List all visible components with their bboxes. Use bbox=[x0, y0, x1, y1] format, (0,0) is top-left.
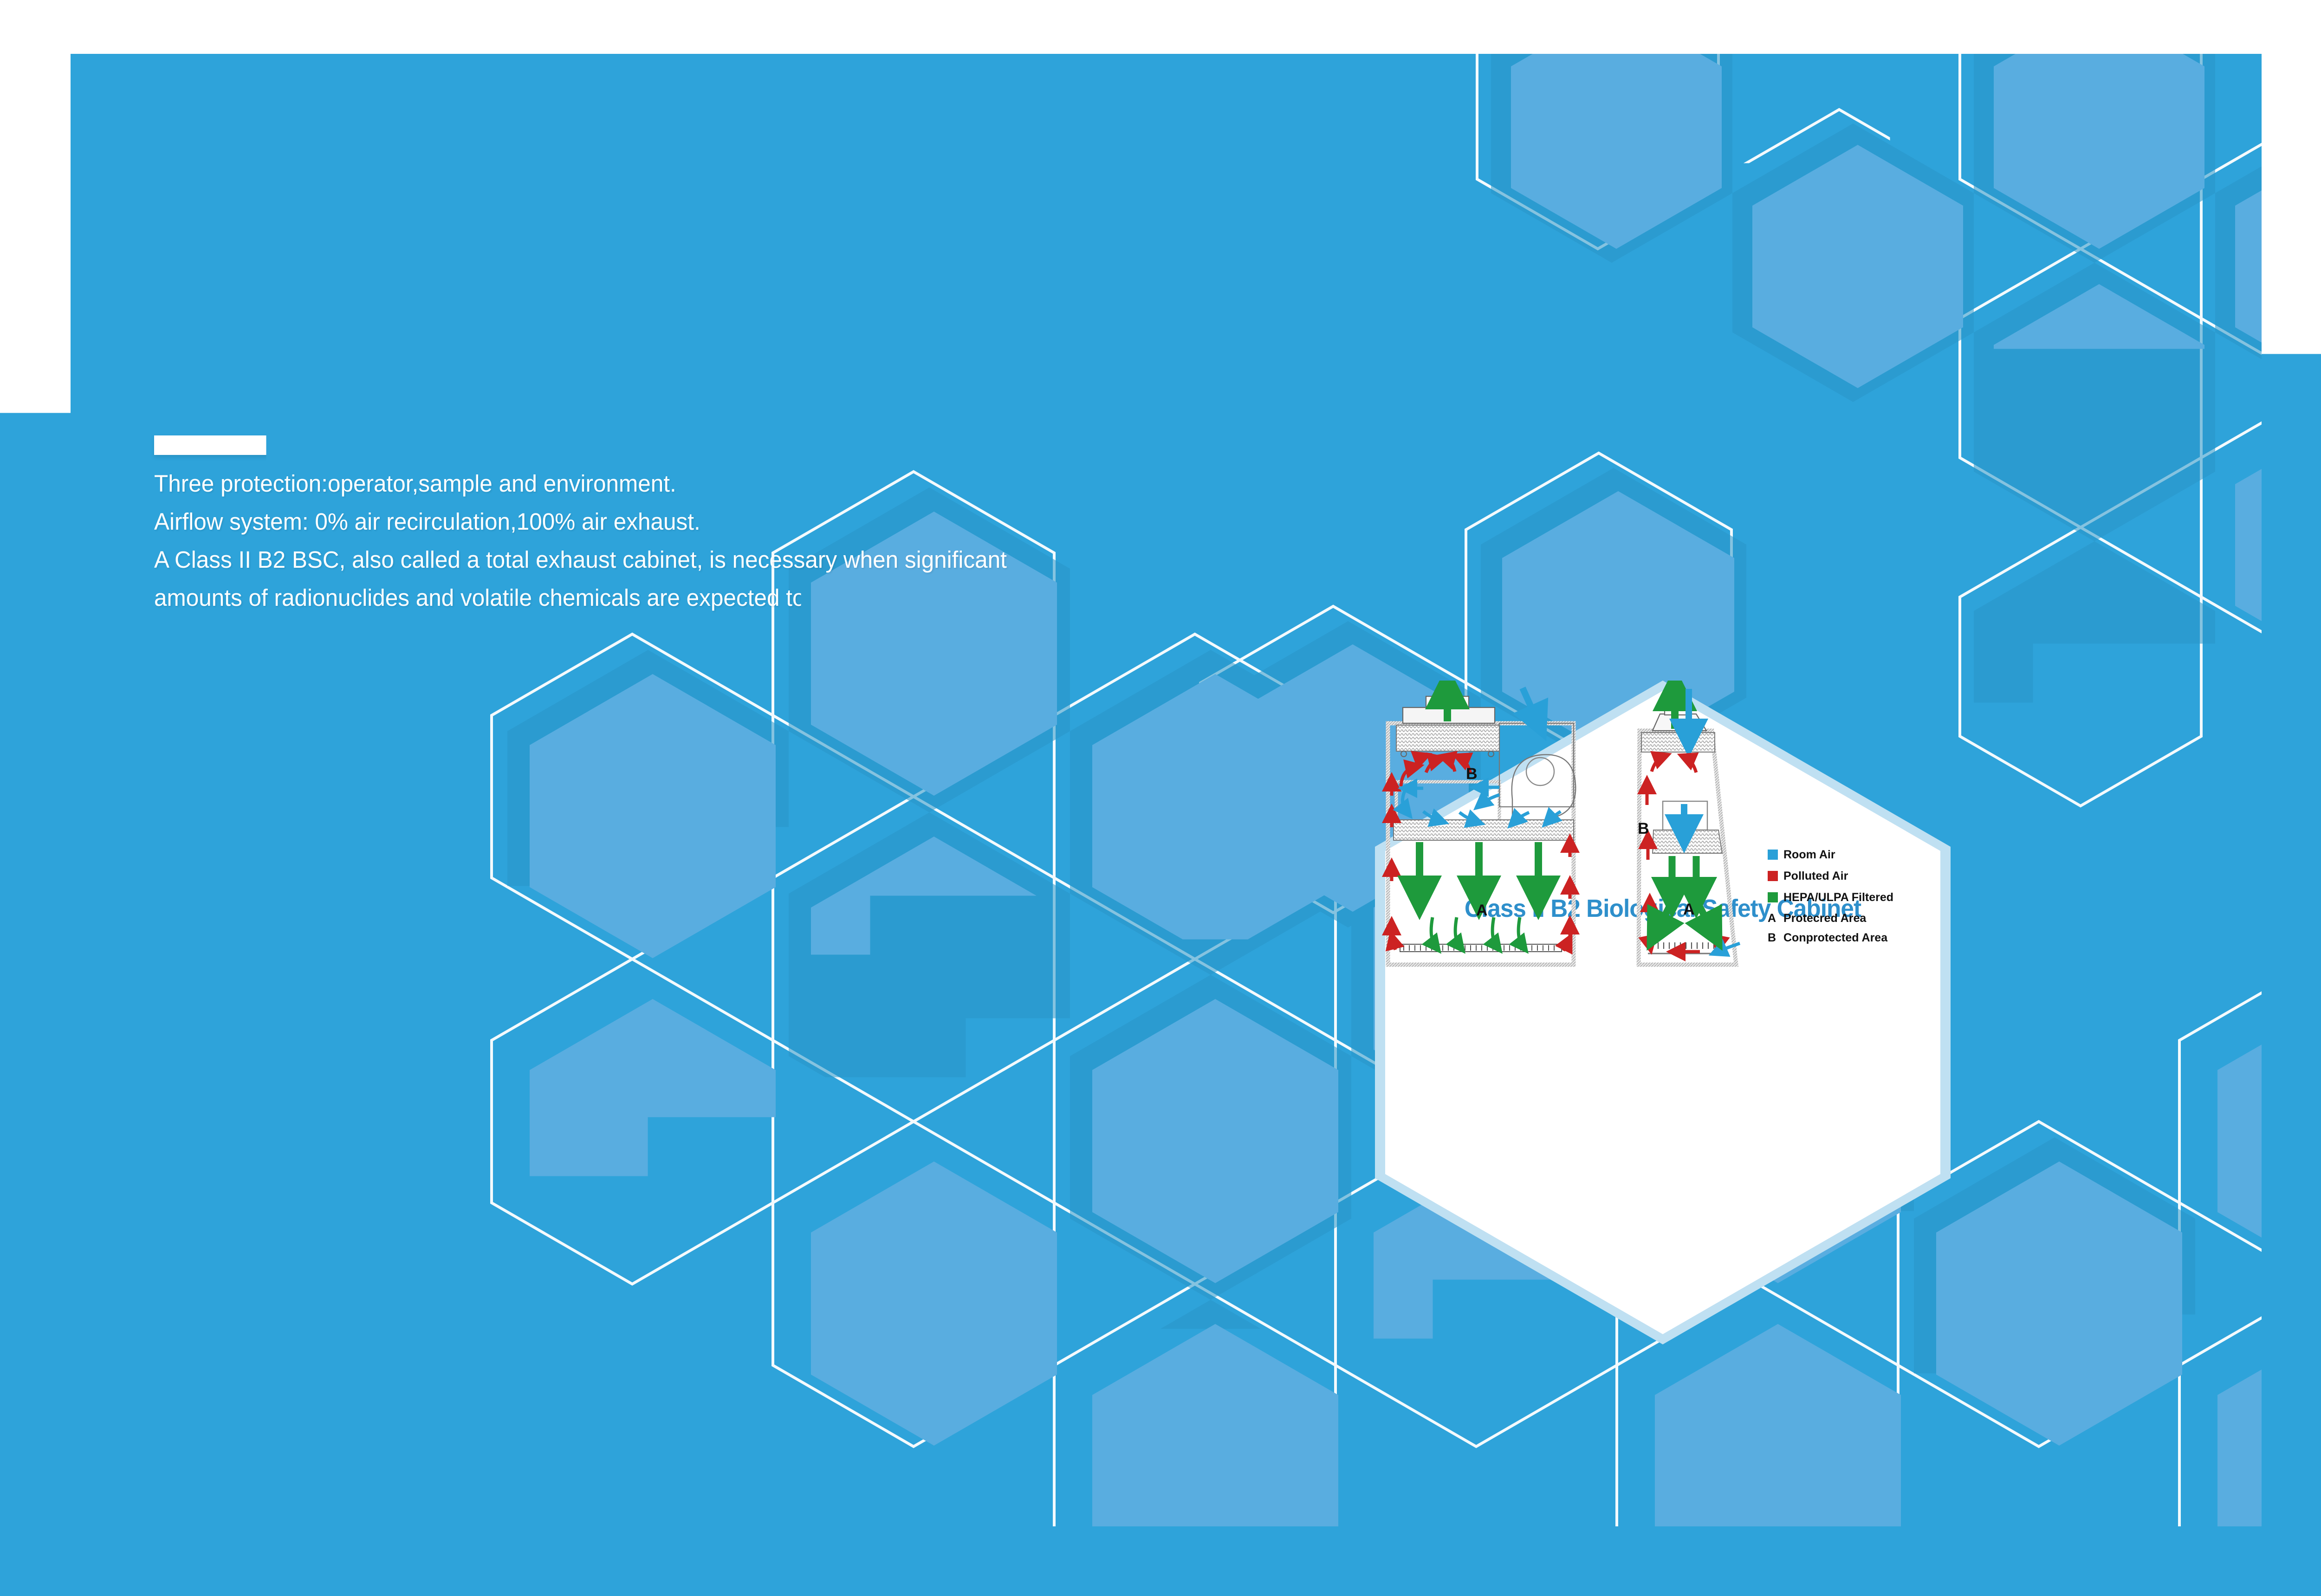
legend-label-unprotected-area: Conprotected Area bbox=[1783, 931, 1888, 944]
left-cabinet-drawing: B A bbox=[1388, 687, 1575, 965]
description-line-2: Airflow system: 0% air recirculation,100… bbox=[154, 510, 1235, 533]
description-line-3: A Class II B2 BSC, also called a total e… bbox=[154, 548, 1235, 571]
right-zone-a-label: A bbox=[1683, 901, 1695, 918]
legend-label-polluted-air: Polluted Air bbox=[1783, 869, 1848, 882]
diagram-legend: A B Room Air Polluted Air HEPA/ULPA Filt… bbox=[1768, 848, 1895, 944]
legend-swatch-room-air bbox=[1768, 850, 1778, 860]
legend-label-hepa-air: HEPA/ULPA Filtered Air bbox=[1783, 891, 1895, 904]
description-line-4: amounts of radionuclides and volatile ch… bbox=[154, 586, 1235, 610]
left-zone-a-label: A bbox=[1476, 902, 1488, 919]
page-title: Class II B2 Biological Safety Cabinet bbox=[154, 379, 1066, 445]
description-line-1: Three protection:operator,sample and env… bbox=[154, 472, 1235, 495]
blue-background-panel: Class II B2 Biological Safety Cabinet Th… bbox=[71, 54, 2262, 1526]
legend-label-room-air: Room Air bbox=[1783, 848, 1835, 861]
legend-swatch-polluted-air bbox=[1768, 871, 1778, 881]
left-zone-b-label: B bbox=[1466, 765, 1478, 783]
right-zone-b-label: B bbox=[1638, 820, 1649, 837]
airflow-schematic: B A bbox=[1375, 681, 1895, 996]
legend-label-protected-area: Protecred Area bbox=[1783, 912, 1867, 925]
legend-marker-a: A bbox=[1768, 912, 1776, 925]
diagram-hexagon-card: Class II B2 Biological Safety Cabinet bbox=[1375, 681, 1951, 1344]
right-cabinet-drawing: B A bbox=[1638, 689, 1740, 965]
legend-swatch-hepa-air bbox=[1768, 892, 1778, 902]
legend-marker-b: B bbox=[1768, 931, 1776, 944]
description-block: Three protection:operator,sample and env… bbox=[154, 472, 1268, 624]
title-underline-bar bbox=[154, 435, 2262, 455]
